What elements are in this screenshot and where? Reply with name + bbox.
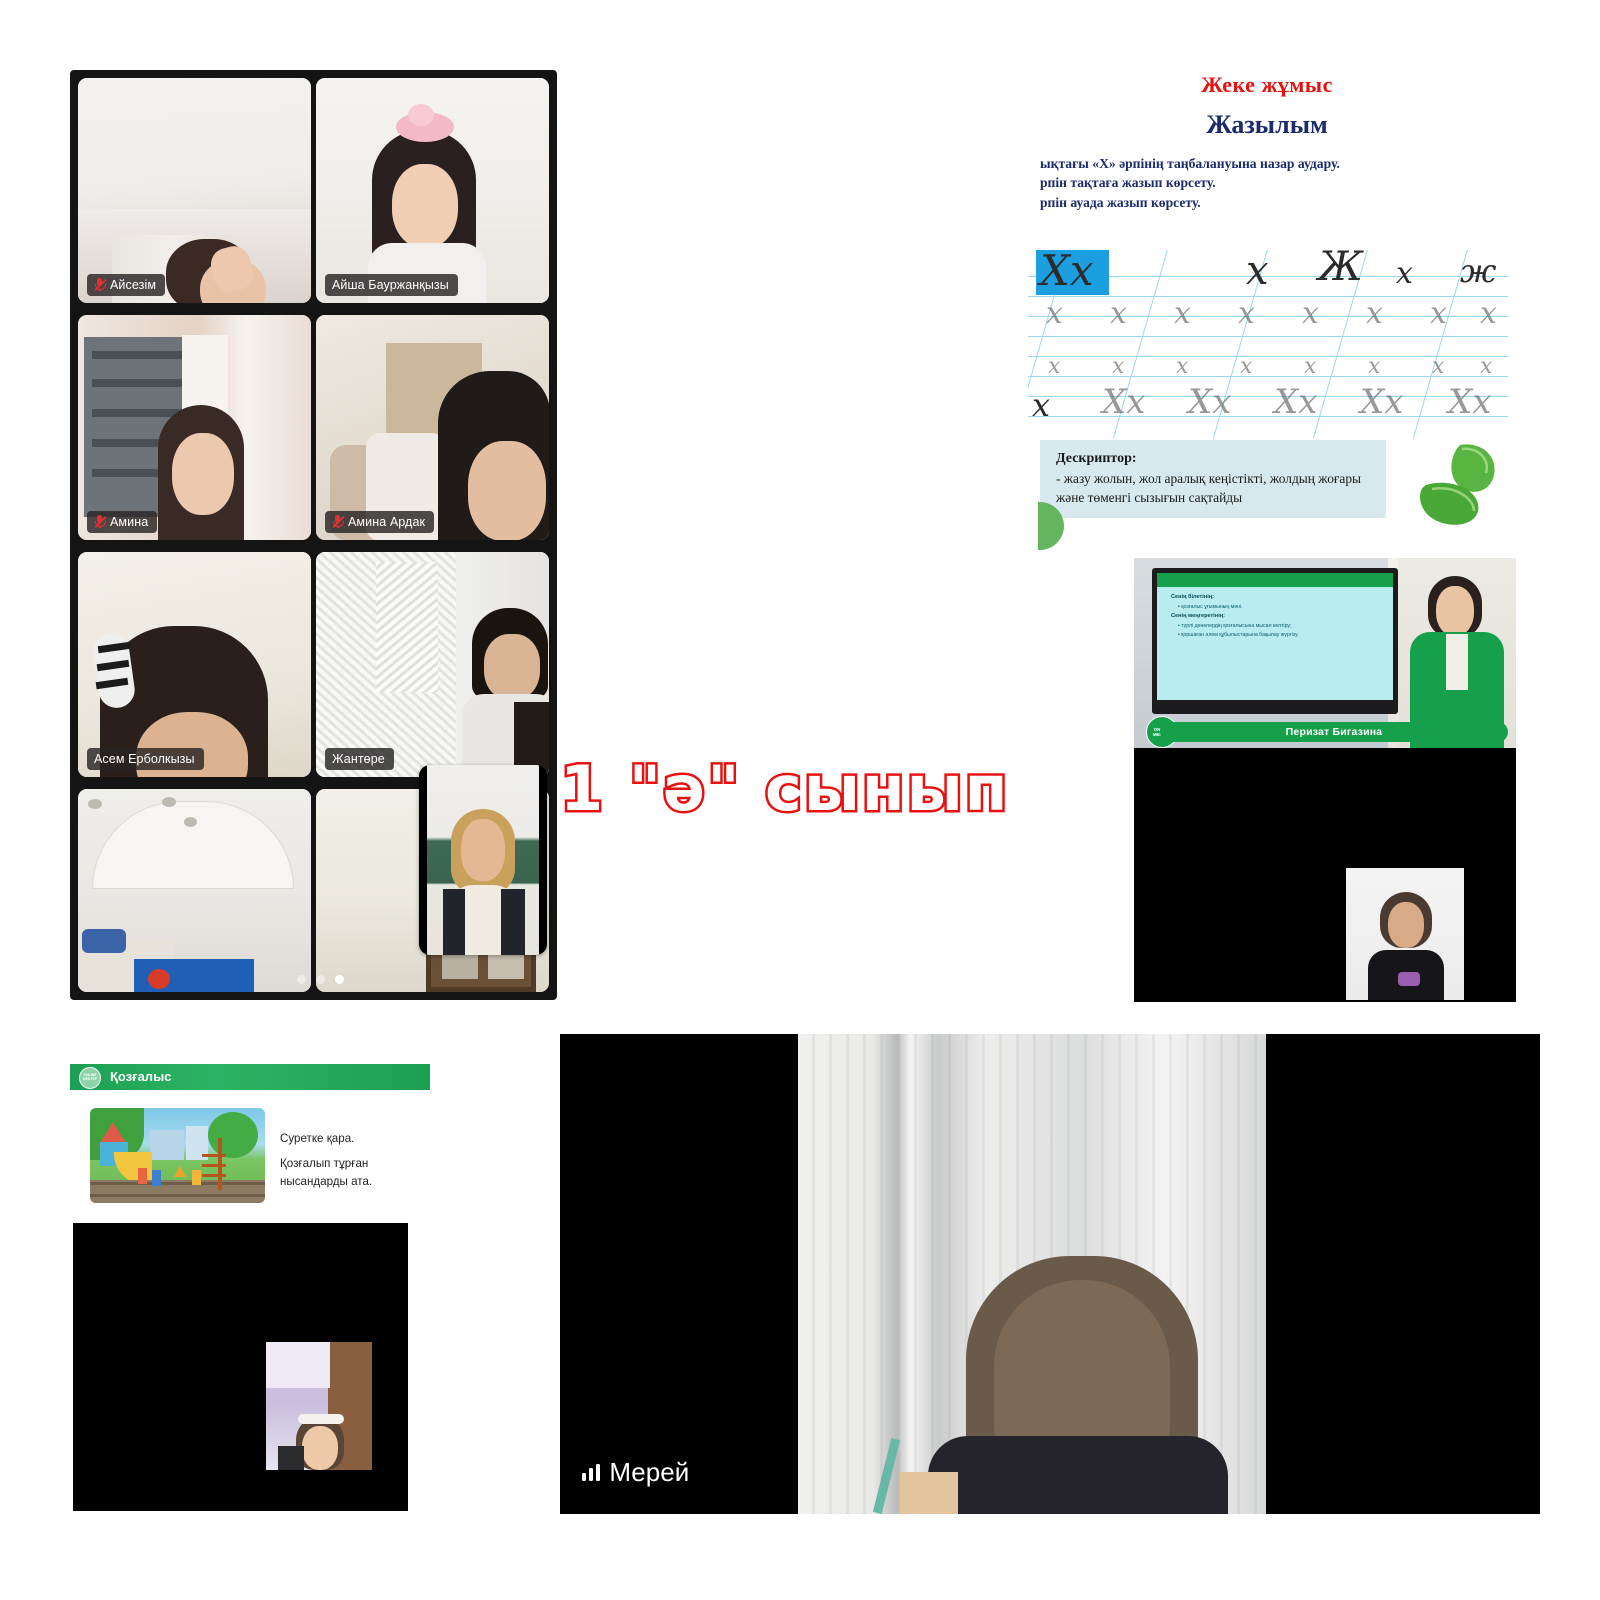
- leaf-decoration-icon: [1382, 439, 1502, 531]
- participant-tile[interactable]: Асем Ерболкызы: [78, 552, 311, 777]
- child-pip-video: [266, 1342, 372, 1470]
- descriptor-body: - жазу жолын, жол аралық кеңістікті, жол…: [1056, 471, 1361, 505]
- participant-video: [78, 552, 311, 777]
- board-line2-item-1: түрлі денелердің қозғалысына мысал келті…: [1181, 623, 1291, 629]
- participant-name: Амина Ардак: [348, 515, 425, 529]
- slide-line-1: ықтағы «Х» әрпінің таңбалануына назар ау…: [1040, 154, 1516, 173]
- teacher-figure: [1398, 558, 1516, 748]
- presenter-name: Перизат Бигазина: [1286, 726, 1383, 738]
- participant-video: [78, 789, 311, 992]
- self-view-pip[interactable]: [419, 765, 547, 955]
- participant-name-chip: Асем Ерболкызы: [87, 748, 204, 770]
- participant-name: Жантөре: [332, 752, 385, 766]
- participant-name-chip: Айша Бауржанқызы: [325, 274, 458, 296]
- playground-illustration: [90, 1108, 265, 1203]
- online-mektep-logo-icon: ONLINE MEKTEP: [79, 1067, 101, 1089]
- lesson-text-line-3: нысандарды ата.: [280, 1173, 372, 1190]
- signal-bars-icon: [582, 1464, 600, 1481]
- descriptor-title: Дескриптор:: [1056, 449, 1374, 468]
- student-pip-video: [1346, 868, 1464, 1000]
- teacher-video-panel[interactable]: Сенің білетінің: • қозғалыс ұғымының мән…: [1134, 558, 1516, 1002]
- participant-name: Асем Ерболкызы: [94, 752, 195, 766]
- participant-name: Амина: [110, 515, 148, 529]
- participant-tile[interactable]: [78, 789, 311, 992]
- participant-name: Айсезім: [110, 278, 156, 292]
- slide-heading-navy: Жазылым: [1018, 110, 1516, 140]
- mic-muted-icon: [94, 515, 105, 528]
- teacher-video-frame: Сенің білетінің: • қозғалыс ұғымының мән…: [1134, 558, 1516, 748]
- lesson-header-bar: ONLINE MEKTEP Қозғалыс: [70, 1064, 430, 1090]
- participant-tile[interactable]: Амина: [78, 315, 311, 540]
- bottom-left-video-panel[interactable]: [73, 1223, 408, 1511]
- mic-muted-icon: [332, 515, 343, 528]
- participant-video: [78, 315, 311, 540]
- slide-heading-red: Жеке жұмыс: [1018, 72, 1516, 98]
- lesson-text-line-1: Суретке қара.: [280, 1130, 372, 1147]
- mic-muted-icon: [94, 278, 105, 291]
- participant-video: [78, 78, 311, 303]
- grid-pagination[interactable]: [297, 975, 344, 984]
- participant-tile[interactable]: Айсезім: [78, 78, 311, 303]
- student-pip[interactable]: [1322, 868, 1488, 1000]
- lesson-header-title: Қозғалыс: [110, 1069, 171, 1084]
- presentation-screen: Сенің білетінің: • қозғалыс ұғымының мән…: [1152, 568, 1398, 714]
- presenter-name-bar: Перизат Бигазина: [1160, 722, 1508, 742]
- class-title: 1 "ә" сынып: [560, 752, 1010, 825]
- lesson-instructions: Суретке қара. Қозғалып тұрған нысандарды…: [280, 1130, 372, 1190]
- student-shirt: [928, 1436, 1228, 1514]
- pagination-dot[interactable]: [297, 975, 306, 984]
- video-participant-name: Мерей: [609, 1457, 689, 1488]
- participant-video: [316, 552, 549, 777]
- self-view-video: [427, 765, 539, 955]
- participant-name-chip: Айсезім: [87, 274, 165, 296]
- participant-tile[interactable]: Амина Ардак: [316, 315, 549, 540]
- descriptor-box: Дескриптор: - жазу жолын, жол аралық кең…: [1040, 440, 1386, 518]
- video-name-badge: Мерей: [582, 1457, 689, 1488]
- board-line2-label: Сенің меңгеретінің:: [1171, 613, 1225, 619]
- child-pip[interactable]: [238, 1342, 398, 1470]
- board-line1-label: Сенің білетінің:: [1171, 594, 1214, 600]
- participant-video: [316, 78, 549, 303]
- participant-video: [316, 315, 549, 540]
- board-line1-item: қозғалыс ұғымының мәні.: [1181, 604, 1242, 610]
- participant-tile[interactable]: Айша Бауржанқызы: [316, 78, 549, 303]
- handwriting-worksheet: Хх 𝑥 Ж 𝑥 ж х х х х х х х х х х х х х х х…: [1028, 250, 1508, 442]
- bottom-right-video-content: [798, 1034, 1266, 1514]
- participant-name: Айша Бауржанқызы: [332, 278, 449, 292]
- participant-tile[interactable]: Жантөре: [316, 552, 549, 777]
- participant-name-chip: Амина Ардак: [325, 511, 434, 533]
- pagination-dot[interactable]: [316, 975, 325, 984]
- participant-name-chip: Амина: [87, 511, 157, 533]
- slide-line-2: рпін тақтаға жазып көрсету.: [1040, 173, 1516, 192]
- board-line2-item-2: қоршаған әлем құбылыстарына бақылау жүрг…: [1181, 632, 1298, 638]
- worksheet-model-letter: Хх: [1040, 250, 1094, 295]
- slide-line-3: рпін ауада жазып көрсету.: [1040, 193, 1516, 212]
- participant-name-chip: Жантөре: [325, 748, 394, 770]
- pagination-dot-active[interactable]: [335, 975, 344, 984]
- lesson-text-line-2: Қозғалып тұрған: [280, 1155, 372, 1172]
- lesson-slide: Жеке жұмыс Жазылым ықтағы «Х» әрпінің та…: [1018, 72, 1516, 537]
- bottom-right-video-panel[interactable]: Мерей: [560, 1034, 1540, 1514]
- lesson-slide-panel: ONLINE MEKTEP Қозғалыс Суретке қара. Қоз…: [70, 1038, 430, 1198]
